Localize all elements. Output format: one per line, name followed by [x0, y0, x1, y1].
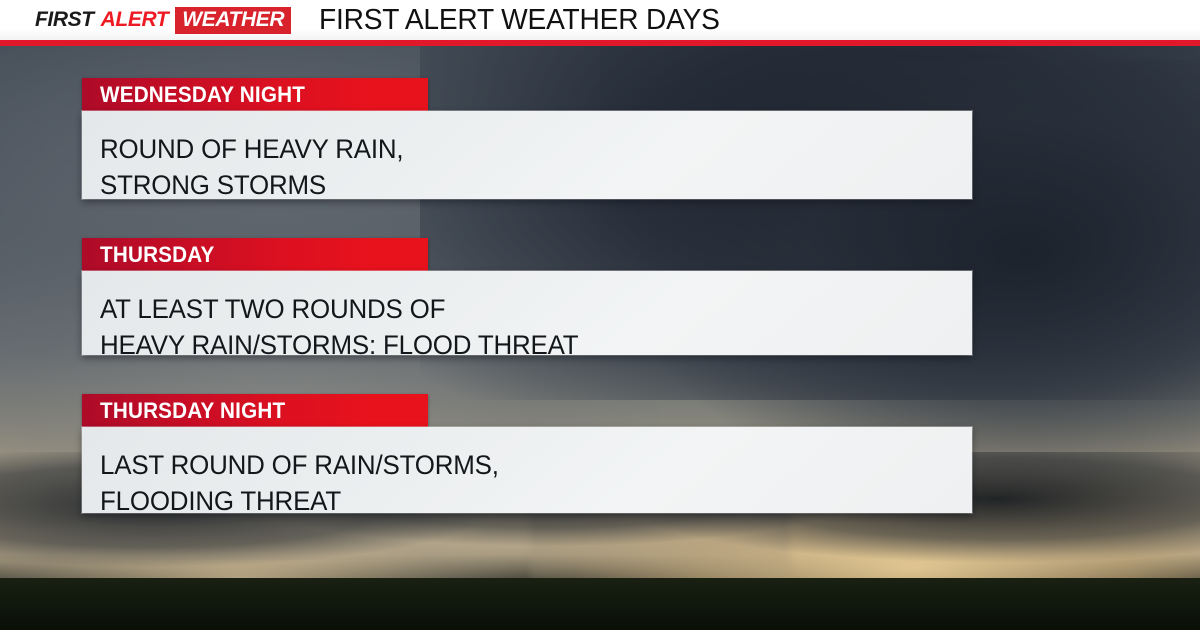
- forecast-panel-thursday-night: THURSDAY NIGHT LAST ROUND OF RAIN/STORMS…: [82, 394, 972, 513]
- panel-banner-label: WEDNESDAY NIGHT: [100, 82, 305, 108]
- panel-body-wednesday-night: ROUND OF HEAVY RAIN, STRONG STORMS: [82, 111, 972, 199]
- panel-text-line: LAST ROUND OF RAIN/STORMS,: [100, 447, 920, 483]
- panel-text-line: STRONG STORMS: [100, 167, 920, 203]
- panel-text-line: ROUND OF HEAVY RAIN,: [100, 131, 920, 167]
- header-red-divider: [0, 40, 1200, 46]
- logo-word-first: FIRST: [35, 8, 94, 32]
- panel-body-thursday: AT LEAST TWO ROUNDS OF HEAVY RAIN/STORMS…: [82, 271, 972, 355]
- forecast-panel-wednesday-night: WEDNESDAY NIGHT ROUND OF HEAVY RAIN, STR…: [82, 78, 972, 199]
- weather-graphic: FIRST ALERT WEATHER FIRST ALERT WEATHER …: [0, 0, 1200, 630]
- panel-text-line: HEAVY RAIN/STORMS: FLOOD THREAT: [100, 327, 920, 363]
- panel-banner-label: THURSDAY NIGHT: [100, 398, 285, 424]
- forecast-panel-thursday: THURSDAY AT LEAST TWO ROUNDS OF HEAVY RA…: [82, 238, 972, 355]
- logo-word-alert: ALERT: [101, 8, 169, 32]
- first-alert-weather-logo: FIRST ALERT WEATHER: [35, 7, 291, 34]
- panel-body-thursday-night: LAST ROUND OF RAIN/STORMS, FLOODING THRE…: [82, 427, 972, 513]
- panel-text-line: FLOODING THREAT: [100, 483, 920, 519]
- panel-banner-label: THURSDAY: [100, 242, 215, 268]
- page-title: FIRST ALERT WEATHER DAYS: [319, 4, 720, 37]
- panel-text-line: AT LEAST TWO ROUNDS OF: [100, 291, 920, 327]
- logo-weather-box: WEATHER: [175, 7, 291, 34]
- panel-banner-wednesday-night: WEDNESDAY NIGHT: [82, 78, 428, 111]
- logo-word-weather: WEATHER: [182, 8, 284, 31]
- panel-banner-thursday: THURSDAY: [82, 238, 428, 271]
- header-bar: FIRST ALERT WEATHER FIRST ALERT WEATHER …: [0, 0, 1200, 40]
- forecast-panel-list: WEDNESDAY NIGHT ROUND OF HEAVY RAIN, STR…: [0, 0, 1200, 630]
- panel-banner-thursday-night: THURSDAY NIGHT: [82, 394, 428, 427]
